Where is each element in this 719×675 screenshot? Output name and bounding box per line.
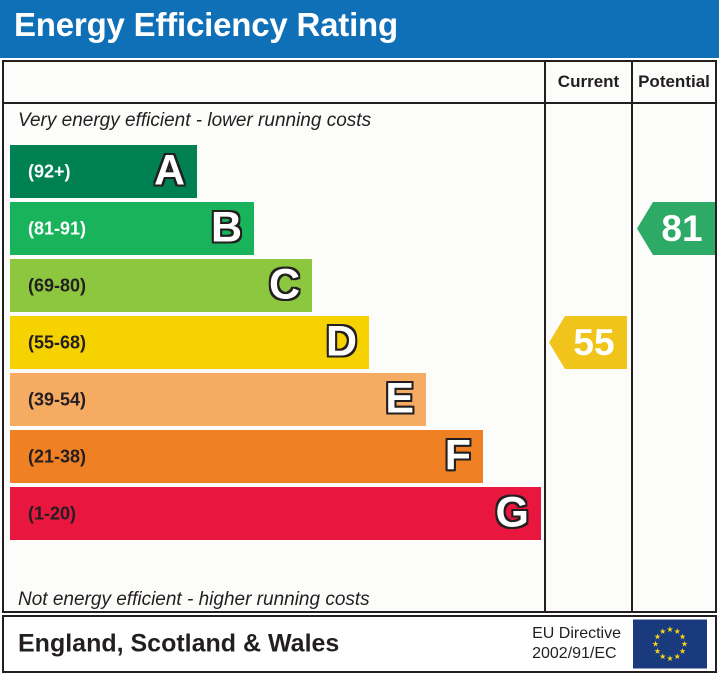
footer-directive: EU Directive 2002/91/EC xyxy=(532,624,621,664)
band-letter-d: D xyxy=(326,320,357,363)
column-divider-current xyxy=(544,62,546,611)
column-header-current: Current xyxy=(546,72,631,92)
rating-chart-frame: Current Potential Very energy efficient … xyxy=(2,60,717,613)
band-range-e: (39-54) xyxy=(28,389,86,410)
band-letter-e: E xyxy=(385,377,414,420)
footer-directive-line2: 2002/91/EC xyxy=(532,644,621,664)
band-letter-g: G xyxy=(496,491,529,534)
rating-band-a: (92+)A xyxy=(10,145,197,198)
band-range-g: (1-20) xyxy=(28,503,76,524)
page-title: Energy Efficiency Rating xyxy=(14,6,398,44)
band-range-d: (55-68) xyxy=(28,332,86,353)
band-letter-b: B xyxy=(211,206,242,249)
potential-rating-value: 81 xyxy=(653,209,711,246)
potential-rating-marker: 81 xyxy=(637,202,715,255)
rating-band-g: (1-20)G xyxy=(10,487,541,540)
rating-band-c: (69-80)C xyxy=(10,259,312,312)
footer-region-label: England, Scotland & Wales xyxy=(18,630,339,659)
band-range-b: (81-91) xyxy=(28,218,86,239)
band-range-f: (21-38) xyxy=(28,446,86,467)
footer-bar: England, Scotland & Wales EU Directive 2… xyxy=(2,615,717,673)
column-divider-potential xyxy=(631,62,633,611)
rating-band-e: (39-54)E xyxy=(10,373,426,426)
band-range-c: (69-80) xyxy=(28,275,86,296)
band-letter-f: F xyxy=(445,434,471,477)
band-letter-c: C xyxy=(269,263,300,306)
current-rating-marker: 55 xyxy=(549,316,627,369)
title-banner: Energy Efficiency Rating xyxy=(0,0,719,58)
rating-bands: (92+)A(81-91)B(69-80)C(55-68)D(39-54)E(2… xyxy=(4,62,544,611)
current-rating-value: 55 xyxy=(565,323,623,360)
band-letter-a: A xyxy=(154,149,185,192)
energy-efficiency-certificate: Energy Efficiency Rating Current Potenti… xyxy=(0,0,719,675)
rating-band-b: (81-91)B xyxy=(10,202,254,255)
rating-band-d: (55-68)D xyxy=(10,316,369,369)
band-range-a: (92+) xyxy=(28,161,71,182)
eu-flag-icon xyxy=(633,620,707,669)
column-header-potential: Potential xyxy=(633,72,715,92)
rating-band-f: (21-38)F xyxy=(10,430,483,483)
footer-directive-line1: EU Directive xyxy=(532,624,621,644)
